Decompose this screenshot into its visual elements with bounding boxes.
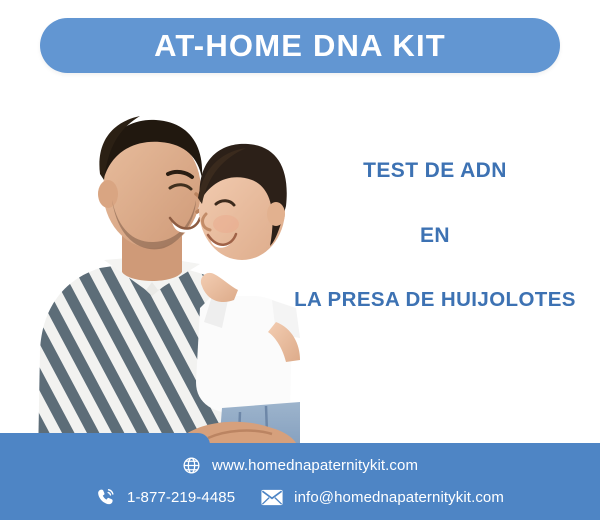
phone-icon bbox=[96, 487, 116, 507]
website-text: www.homednapaternitykit.com bbox=[212, 457, 418, 474]
footer-phone-email-row: 1-877-219-4485 info@homednapaternitykit.… bbox=[0, 487, 600, 507]
footer-website-row: www.homednapaternitykit.com bbox=[0, 456, 600, 475]
website-contact[interactable]: www.homednapaternitykit.com bbox=[182, 456, 418, 475]
globe-icon bbox=[182, 456, 201, 475]
header-pill: AT-HOME DNA KIT bbox=[40, 18, 560, 73]
headline-block: TEST DE ADN EN LA PRESA DE HUIJOLOTES bbox=[270, 160, 600, 311]
phone-contact[interactable]: 1-877-219-4485 bbox=[96, 487, 235, 507]
headline-line-service: TEST DE ADN bbox=[270, 160, 600, 181]
footer-bar: www.homednapaternitykit.com 1-877-219-44… bbox=[0, 443, 600, 520]
email-contact[interactable]: info@homednapaternitykit.com bbox=[261, 489, 504, 506]
footer-notch bbox=[0, 433, 210, 447]
photo-illustration bbox=[0, 82, 300, 462]
headline-line-location: LA PRESA DE HUIJOLOTES bbox=[270, 290, 600, 311]
poster-canvas: AT-HOME DNA KIT bbox=[0, 0, 600, 520]
father-and-child-photo bbox=[0, 82, 300, 462]
headline-line-preposition: EN bbox=[270, 225, 600, 246]
envelope-icon bbox=[261, 489, 283, 506]
phone-text: 1-877-219-4485 bbox=[127, 489, 235, 506]
page-title: AT-HOME DNA KIT bbox=[154, 28, 446, 64]
email-text: info@homednapaternitykit.com bbox=[294, 489, 504, 506]
